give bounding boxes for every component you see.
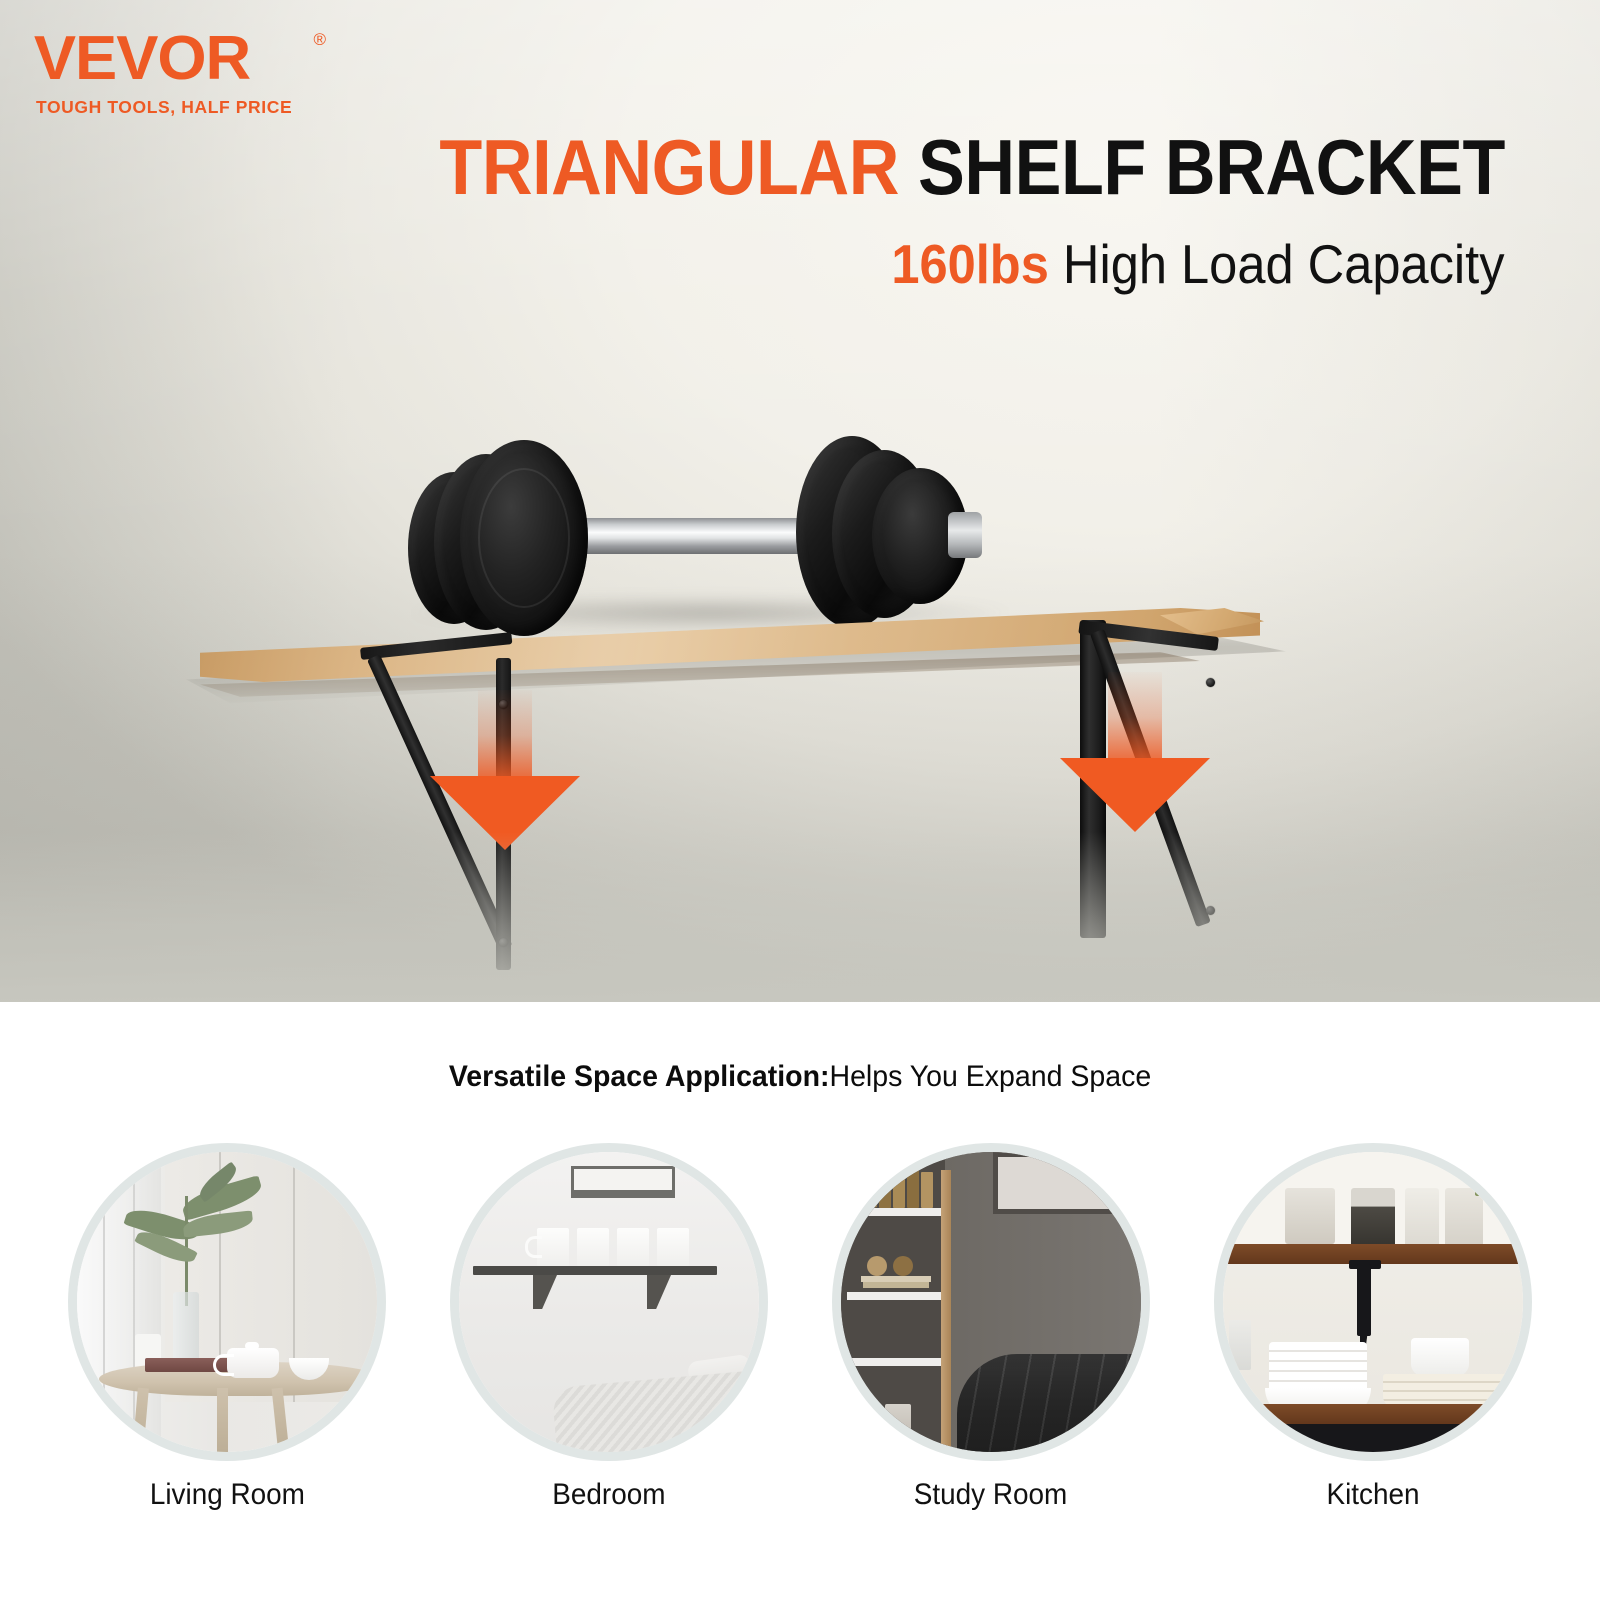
curtain bbox=[77, 1152, 161, 1452]
book bbox=[907, 1170, 919, 1208]
bracket-screw-icon bbox=[1206, 906, 1215, 915]
application-thumbnail-living-room bbox=[77, 1152, 377, 1452]
dumbbell-plate-left-face bbox=[460, 440, 588, 636]
bookcase-shelf bbox=[847, 1208, 943, 1216]
application-label: Study Room bbox=[914, 1478, 1068, 1512]
applications-title-bold: Versatile Space Application: bbox=[449, 1060, 830, 1093]
teapot bbox=[227, 1348, 279, 1378]
table-leg bbox=[217, 1388, 228, 1452]
arrow-head bbox=[430, 776, 580, 850]
dumbbell bbox=[392, 424, 1012, 624]
application-label: Kitchen bbox=[1326, 1478, 1419, 1512]
arrow-head bbox=[1060, 758, 1210, 832]
jar bbox=[1351, 1188, 1395, 1248]
applications-title-regular: Helps You Expand Space bbox=[829, 1060, 1151, 1093]
bedroom-scene bbox=[459, 1152, 759, 1452]
application-label: Bedroom bbox=[552, 1478, 665, 1512]
application-item-study-room: Study Room bbox=[831, 1152, 1151, 1512]
applications-title: Versatile Space Application:Helps You Ex… bbox=[40, 1062, 1560, 1092]
load-arrow-down-icon-left bbox=[430, 690, 580, 850]
wood-shelf bbox=[1223, 1404, 1523, 1424]
wall-shelf bbox=[473, 1266, 717, 1275]
study-room-scene bbox=[841, 1152, 1141, 1452]
application-list: Living Room Bedroom bbox=[0, 1152, 1600, 1512]
shelf-bracket bbox=[1357, 1264, 1371, 1336]
leather-chair bbox=[957, 1354, 1141, 1452]
glass bbox=[1229, 1320, 1251, 1370]
bookcase-shelf bbox=[847, 1358, 943, 1366]
mug bbox=[657, 1228, 689, 1268]
application-item-living-room: Living Room bbox=[67, 1152, 387, 1512]
jar bbox=[1405, 1188, 1439, 1250]
mug bbox=[577, 1228, 609, 1268]
decor-ball bbox=[867, 1256, 887, 1276]
kitchen-scene bbox=[1223, 1152, 1523, 1452]
framed-art bbox=[993, 1152, 1141, 1214]
lower-cabinet bbox=[1223, 1424, 1523, 1452]
jar bbox=[885, 1404, 911, 1448]
book-stack bbox=[863, 1282, 929, 1288]
living-room-scene bbox=[77, 1152, 377, 1452]
book bbox=[879, 1170, 891, 1208]
dumbbell-plate-ring bbox=[478, 468, 570, 608]
picture-frame bbox=[571, 1166, 675, 1198]
bracket-screw-icon bbox=[499, 938, 508, 947]
application-thumbnail-study-room bbox=[841, 1152, 1141, 1452]
decor-ball bbox=[893, 1256, 913, 1276]
book bbox=[893, 1170, 905, 1208]
application-thumbnail-kitchen bbox=[1223, 1152, 1523, 1452]
application-item-bedroom: Bedroom bbox=[449, 1152, 769, 1512]
applications-section: Versatile Space Application:Helps You Ex… bbox=[0, 1002, 1600, 1600]
hero-section: VEVOR® TOUGH TOOLS, HALF PRICE TRIANGULA… bbox=[0, 0, 1600, 1002]
application-label: Living Room bbox=[149, 1478, 304, 1512]
jar bbox=[1445, 1188, 1483, 1250]
dumbbell-end-cap bbox=[948, 512, 982, 558]
application-thumbnail-bedroom bbox=[459, 1152, 759, 1452]
jar bbox=[1285, 1188, 1335, 1244]
mug bbox=[537, 1228, 569, 1268]
book bbox=[921, 1172, 933, 1208]
application-item-kitchen: Kitchen bbox=[1213, 1152, 1533, 1512]
product-illustration bbox=[0, 0, 1600, 1002]
plate-stack bbox=[1383, 1374, 1513, 1408]
wood-divider bbox=[941, 1170, 951, 1452]
load-arrow-down-icon-right bbox=[1060, 672, 1210, 832]
cup bbox=[1411, 1338, 1469, 1376]
mug bbox=[617, 1228, 649, 1268]
bookcase-shelf bbox=[847, 1292, 943, 1300]
